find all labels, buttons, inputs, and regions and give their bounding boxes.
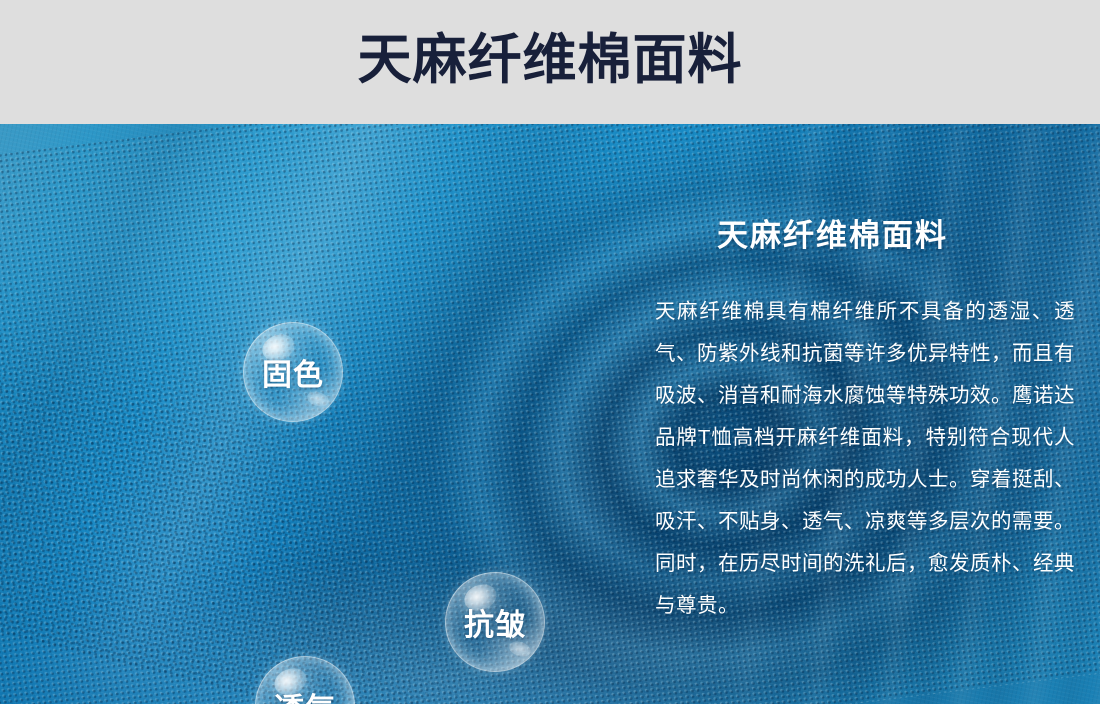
feature-bubble-label: 透气 [274, 684, 336, 704]
panel-body-text: 天麻纤维棉具有棉纤维所不具备的透湿、透气、防紫外线和抗菌等许多优异特性，而且有吸… [655, 291, 1075, 627]
feature-bubble-gusè: 固色 [243, 322, 343, 422]
panel-title: 天麻纤维棉面料 [717, 210, 1075, 255]
page-header: 天麻纤维棉面料 [0, 0, 1100, 124]
feature-bubble-label: 抗皱 [464, 600, 526, 644]
description-panel: 天麻纤维棉面料 天麻纤维棉具有棉纤维所不具备的透湿、透气、防紫外线和抗菌等许多优… [655, 210, 1075, 627]
fabric-photo: 固色 抗皱 透气 亲肤 天麻纤维棉面料 天麻纤维棉具有棉纤维所不具备的透湿、透气… [0, 124, 1100, 704]
feature-bubble-kangzhou: 抗皱 [445, 572, 545, 672]
product-banner: 天麻纤维棉面料 固色 抗皱 透气 亲肤 天麻纤维棉面料 天麻纤维棉具有棉纤维所不… [0, 0, 1100, 704]
feature-bubble-label: 固色 [262, 350, 324, 394]
page-title: 天麻纤维棉面料 [0, 0, 1100, 124]
